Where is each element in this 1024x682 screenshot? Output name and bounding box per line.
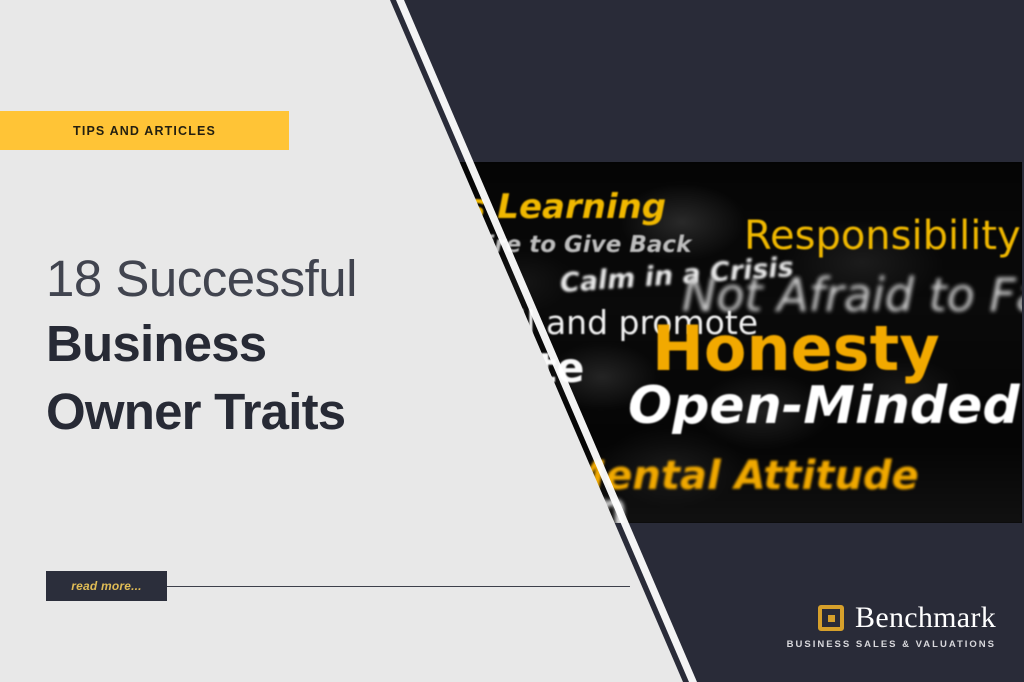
brand-logo: Benchmark BUSINESS SALES & VALUATIONS xyxy=(787,603,996,650)
logo-name: Benchmark xyxy=(855,603,996,633)
read-more-label: read more... xyxy=(71,579,141,593)
word-honesty: Honesty xyxy=(652,318,940,380)
logo-row: Benchmark xyxy=(818,603,996,633)
read-more-button[interactable]: read more... xyxy=(46,571,167,601)
category-badge[interactable]: TIPS AND ARTICLES xyxy=(0,111,289,150)
word-open-minded: Open-Minded xyxy=(628,380,1020,432)
nested-square-icon xyxy=(818,605,844,631)
title-line-3: Owner Traits xyxy=(46,378,357,445)
page-title: 18 Successful Business Owner Traits xyxy=(46,248,357,445)
article-card: ves Learning Desire to Give Back Calm in… xyxy=(0,0,1024,682)
logo-tagline: BUSINESS SALES & VALUATIONS xyxy=(787,639,996,650)
title-line-1: 18 Successful xyxy=(46,248,357,310)
category-badge-label: TIPS AND ARTICLES xyxy=(73,124,216,138)
word-responsibility: Responsibility xyxy=(744,216,1021,256)
title-line-2: Business xyxy=(46,310,357,377)
